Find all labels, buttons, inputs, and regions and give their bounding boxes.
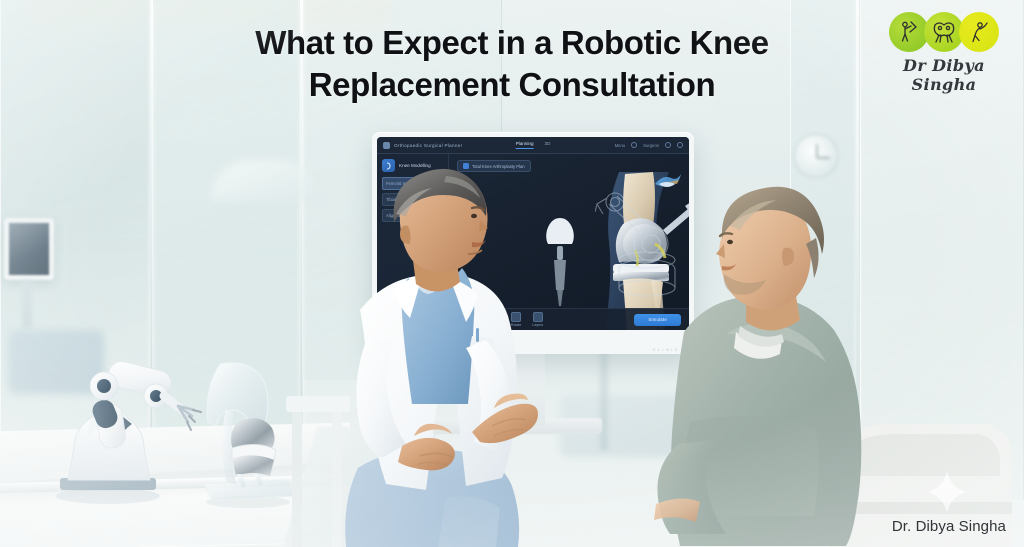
wall-clock-icon bbox=[793, 133, 839, 179]
app-logo-icon bbox=[383, 142, 390, 149]
consultation-scene: Orthopaedic Surgical Planner Planning 3D… bbox=[0, 0, 1024, 547]
account-icon[interactable] bbox=[677, 142, 683, 148]
screen-topbar-actions: Menu Surgeon bbox=[615, 142, 683, 148]
doctor-figure bbox=[296, 168, 596, 547]
brand-logo[interactable]: Dr Dibya Singha bbox=[880, 10, 1008, 94]
pelvis-bone-icon bbox=[924, 12, 964, 52]
robotic-arm-model bbox=[46, 338, 206, 506]
surgeon-label[interactable]: Surgeon bbox=[643, 143, 659, 148]
monitor-mount-arm bbox=[22, 280, 32, 328]
wall-mounted-monitor bbox=[4, 218, 54, 280]
screen-topbar: Orthopaedic Surgical Planner Planning 3D… bbox=[377, 137, 689, 154]
expand-icon[interactable] bbox=[665, 142, 671, 148]
knee-implant-model bbox=[192, 356, 300, 508]
patient-figure bbox=[648, 182, 888, 547]
person-with-crutch-icon bbox=[889, 12, 929, 52]
person-stretching-icon bbox=[959, 12, 999, 52]
title-line-2: Replacement Consultation bbox=[309, 66, 716, 103]
tab-planning[interactable]: Planning bbox=[516, 141, 534, 149]
tab-3d[interactable]: 3D bbox=[545, 141, 551, 149]
screen-tabs: Planning 3D bbox=[516, 141, 551, 149]
menu-label[interactable]: Menu bbox=[615, 143, 625, 148]
settings-gear-icon[interactable] bbox=[631, 142, 637, 148]
title-line-1: What to Expect in a Robotic Knee bbox=[255, 24, 768, 61]
sparkle-icon bbox=[928, 471, 966, 513]
app-title: Orthopaedic Surgical Planner bbox=[394, 143, 462, 148]
page-title: What to Expect in a Robotic Knee Replace… bbox=[192, 22, 832, 105]
logo-name: Dr Dibya Singha bbox=[880, 56, 1008, 94]
watermark-text: Dr. Dibya Singha bbox=[892, 518, 1006, 535]
logo-marks bbox=[880, 10, 1008, 54]
